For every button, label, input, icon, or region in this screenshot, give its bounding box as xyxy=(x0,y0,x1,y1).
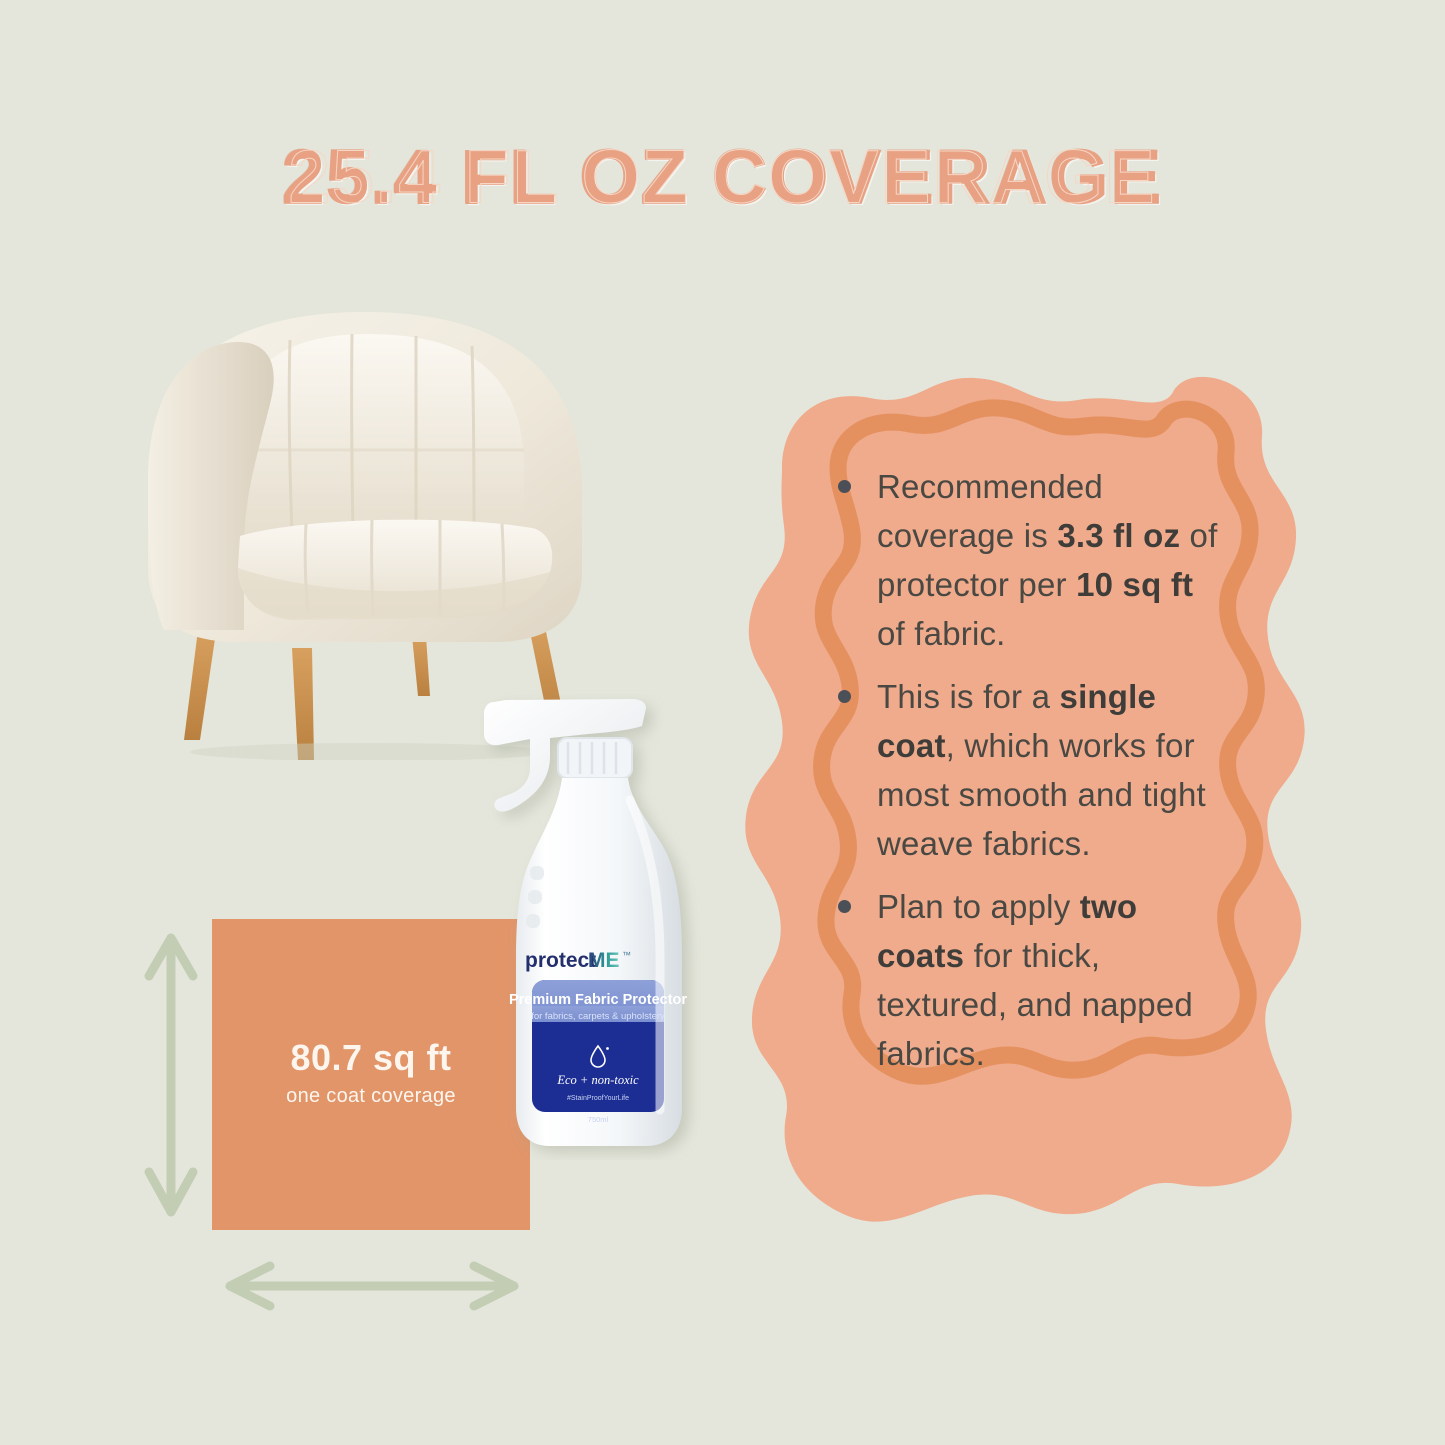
bullet-text-two-coats: Plan to apply two coats for thick, textu… xyxy=(877,882,1228,1078)
bullet-text-single-coat: This is for a single coat, which works f… xyxy=(877,672,1228,868)
bullet-dot-icon xyxy=(838,900,851,913)
bullet-dot-icon xyxy=(838,690,851,703)
bottle-subtitle: for fabrics, carpets & upholstery xyxy=(531,1011,665,1022)
horizontal-double-arrow-icon xyxy=(212,1258,532,1318)
bullet-dot-icon xyxy=(838,480,851,493)
bottle-eco-claim: Eco + non-toxic xyxy=(556,1073,639,1087)
infographic-canvas: 25.4 FL OZ COVERAGE 25.4 FL OZ COVERAGE xyxy=(0,0,1445,1445)
bottle-brand-secondary: ME xyxy=(588,949,620,972)
page-title: 25.4 FL OZ COVERAGE xyxy=(282,135,1163,220)
bottle-brand-tm: ™ xyxy=(622,950,631,960)
coverage-tips-list: Recommended coverage is 3.3 fl oz of pro… xyxy=(838,462,1228,1092)
bullet-text-coverage-rate: Recommended coverage is 3.3 fl oz of pro… xyxy=(877,462,1228,658)
list-item: This is for a single coat, which works f… xyxy=(838,672,1228,868)
bottle-volume: 750ml xyxy=(588,1115,609,1124)
list-item: Plan to apply two coats for thick, textu… xyxy=(838,882,1228,1078)
list-item: Recommended coverage is 3.3 fl oz of pro… xyxy=(838,462,1228,658)
bottle-hashtag: #StainProofYourLife xyxy=(567,1095,629,1102)
title-block: 25.4 FL OZ COVERAGE xyxy=(0,140,1445,216)
vertical-double-arrow-icon xyxy=(136,918,206,1230)
bottle-product-name: Premium Fabric Protector xyxy=(509,992,687,1008)
bottle-brand-primary: protect xyxy=(525,949,596,972)
spray-bottle-product: protect ME ™ Premium Fabric Protector fo… xyxy=(470,690,720,1160)
chair-back-inner xyxy=(228,334,524,536)
